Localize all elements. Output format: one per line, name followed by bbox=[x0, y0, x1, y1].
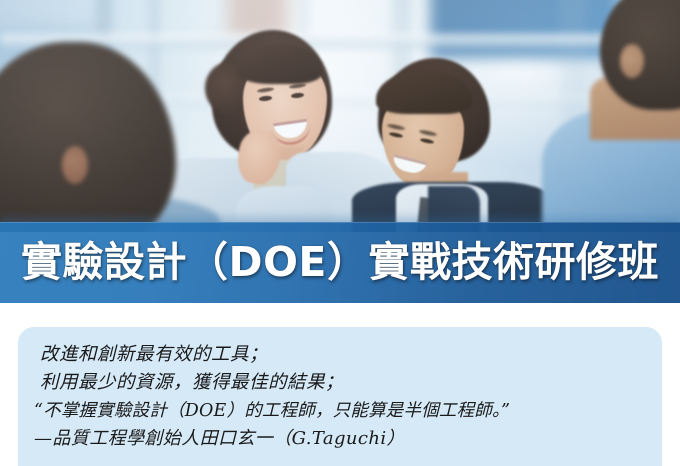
man-right-ear bbox=[620, 44, 644, 78]
man-left-ear bbox=[62, 146, 88, 184]
quote-line-3: “不掌握實驗設計（DOE）的工程師，只能算是半個工程師。” bbox=[18, 397, 662, 425]
quote-attribution: —品質工程學創始人田口玄一（G.Taguchi） bbox=[18, 425, 662, 453]
quote-box: 改進和創新最有效的工具； 利用最少的資源，獲得最佳的結果； “不掌握實驗設計（D… bbox=[18, 327, 662, 466]
business-meeting-photo bbox=[0, 0, 680, 232]
title-banner: 實驗設計（DOE）實戰技術研修班 bbox=[0, 222, 680, 303]
poster-title: 實驗設計（DOE）實戰技術研修班 bbox=[21, 242, 659, 283]
quote-line-1: 改進和創新最有效的工具； bbox=[18, 341, 662, 369]
blue-panel-top-right bbox=[430, 0, 620, 58]
poster-root: 實驗設計（DOE）實戰技術研修班 改進和創新最有效的工具； 利用最少的資源，獲得… bbox=[0, 0, 680, 466]
quote-line-2: 利用最少的資源，獲得最佳的結果； bbox=[18, 369, 662, 397]
